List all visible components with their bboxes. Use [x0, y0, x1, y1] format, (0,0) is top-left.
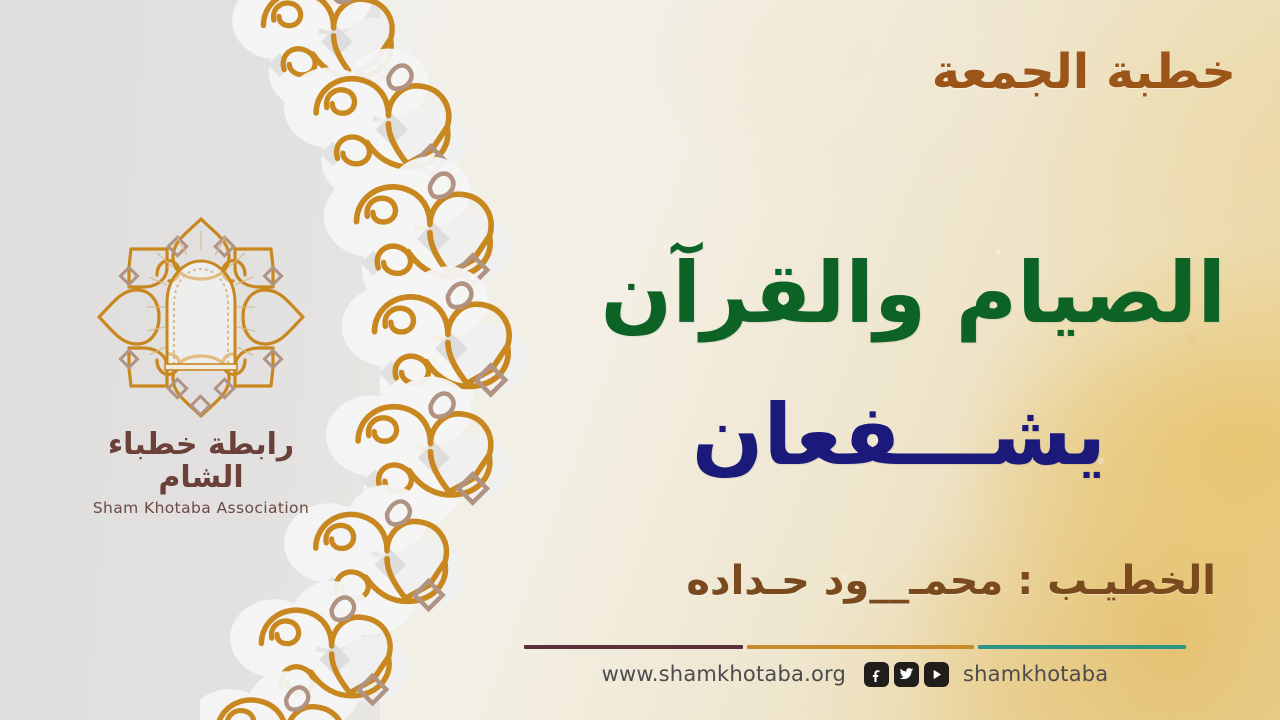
sermon-title-line-2: يشـــفعان — [436, 390, 1106, 481]
rule-gold — [747, 645, 974, 649]
mihrab-rosette-emblem-icon — [95, 215, 307, 420]
association-logo: رابطة خطباء الشام Sham Khotaba Associati… — [78, 215, 324, 517]
sermon-title-line-1: الصيام والقرآن — [406, 248, 1226, 339]
footer-bar: www.shamkhotaba.org shamkhotaba — [524, 655, 1186, 693]
content-column: خطبة الجمعة الصيام والقرآن يشـــفعان الخ… — [416, 0, 1236, 720]
website-url[interactable]: www.shamkhotaba.org — [602, 662, 846, 686]
khutbah-kicker: خطبة الجمعة — [416, 48, 1236, 96]
poster-canvas: رابطة خطباء الشام Sham Khotaba Associati… — [0, 0, 1280, 720]
rule-maroon — [524, 645, 743, 649]
social-links — [864, 662, 949, 687]
footer-divider-rules — [524, 645, 1186, 649]
rule-teal — [978, 645, 1186, 649]
twitter-icon[interactable] — [894, 662, 919, 687]
social-handle[interactable]: shamkhotaba — [963, 662, 1108, 686]
logo-name-english: Sham Khotaba Association — [78, 499, 324, 517]
logo-name-arabic: رابطة خطباء الشام — [78, 428, 324, 494]
speaker-name: الخطيـب : محمـ__ود حـداده — [396, 558, 1216, 604]
facebook-icon[interactable] — [864, 662, 889, 687]
youtube-icon[interactable] — [924, 662, 949, 687]
